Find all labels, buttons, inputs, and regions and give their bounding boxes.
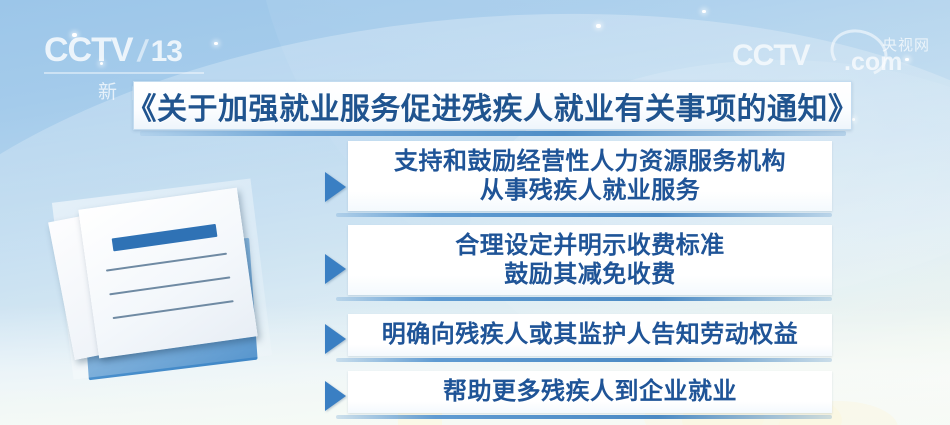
- bullet-text: 支持和鼓励经营性人力资源服务机构 从事残疾人就业服务: [394, 147, 786, 206]
- document-sheet-back: [48, 192, 232, 360]
- sparkle-dot: [72, 33, 77, 37]
- headline-banner: 《关于加强就业服务促进残疾人就业有关事项的通知》: [133, 81, 852, 130]
- cctv-logo-rule: [44, 72, 204, 74]
- document-text-line: [106, 253, 227, 272]
- sparkle-dot: [596, 24, 601, 28]
- document-stack-illustration: [66, 188, 316, 388]
- headline-text: 《关于加强就业服务促进残疾人就业有关事项的通知》: [127, 84, 859, 128]
- sparkle-dot: [214, 42, 218, 45]
- cctv-logo-text: CCTV: [44, 33, 133, 67]
- bullet-panel: 帮助更多残疾人到企业就业: [348, 371, 832, 413]
- watermark-chinese-text: 央视网: [882, 34, 930, 55]
- bullet-panel: 明确向残疾人或其监护人告知劳动权益: [348, 314, 832, 356]
- headline-underline: [140, 131, 846, 136]
- cctv-logo-mark: CCTV / 13: [44, 33, 214, 69]
- watermark-dotcom-text: .com: [844, 48, 902, 77]
- sparkle-dot: [905, 58, 909, 61]
- sparkle-dot: [100, 62, 103, 65]
- bullet-panel: 合理设定并明示收费标准 鼓励其减免收费: [348, 225, 832, 295]
- bullet-underline: [336, 213, 832, 217]
- watermark-swoosh-icon: [824, 22, 893, 84]
- document-glass-overlay: [52, 178, 272, 379]
- document-base-slab: [80, 238, 257, 381]
- triangle-arrow-icon: [325, 254, 346, 284]
- watermark-cctv-text: CCTV: [732, 40, 810, 72]
- bullet-text: 明确向残疾人或其监护人告知劳动权益: [382, 320, 799, 349]
- bullet-underline: [336, 297, 832, 301]
- cctv-com-watermark: CCTV .com 央视网: [732, 32, 932, 80]
- triangle-arrow-icon: [325, 381, 346, 411]
- sparkle-dot: [702, 10, 706, 13]
- triangle-arrow-icon: [325, 172, 346, 202]
- bullet-panel: 支持和鼓励经营性人力资源服务机构 从事残疾人就业服务: [348, 141, 832, 211]
- bullet-underline: [336, 358, 832, 362]
- broadcast-graphic: CCTV / 13 新闻 CCTV .com 央视网 《关于加强就业服务促进残疾…: [0, 0, 950, 425]
- bullet-underline: [336, 415, 832, 419]
- document-sheet-front: [78, 188, 257, 359]
- triangle-arrow-icon: [325, 324, 346, 354]
- cctv-logo-number: 13: [151, 35, 182, 69]
- cctv-logo-slash: /: [129, 35, 154, 69]
- document-highlight-bar: [111, 224, 217, 252]
- document-text-line: [113, 300, 234, 319]
- bullet-text: 帮助更多残疾人到企业就业: [443, 377, 737, 406]
- bullet-text: 合理设定并明示收费标准 鼓励其减免收费: [455, 231, 725, 290]
- document-text-line: [109, 276, 230, 295]
